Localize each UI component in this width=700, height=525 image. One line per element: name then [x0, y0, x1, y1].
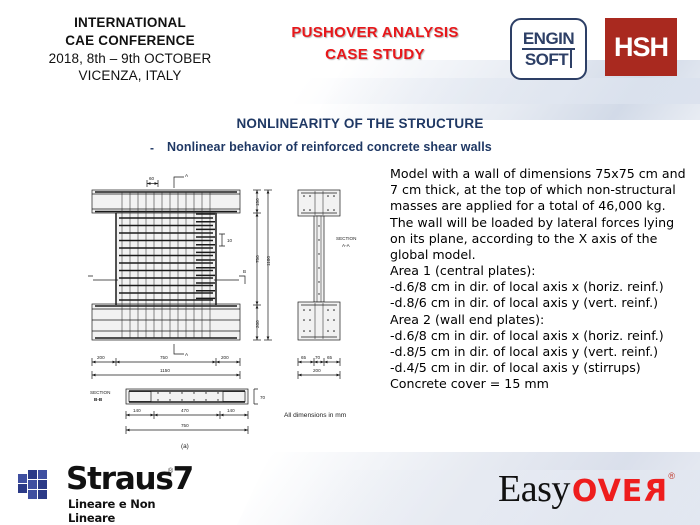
straus7-tagline: Lineare e Non Lineare [68, 497, 198, 525]
section-marker-a-top: A [174, 173, 189, 188]
section-aa-label-line-2: A-A [342, 243, 351, 248]
description-line: masses are applied for a total of 46,000… [390, 198, 690, 214]
description-line: 7 cm thick, at the top of which non-stru… [390, 182, 690, 198]
dim-sec-bb-thickness-label: 70 [260, 395, 266, 400]
straus7-logo: Straus7 ® Lineare e Non Lineare [18, 466, 198, 514]
section-marker-b-right-label: B [243, 269, 246, 274]
easyover-logo-easy: Easy [498, 470, 570, 508]
dim-plan-left-label: 200 [97, 355, 105, 360]
easyover-registered-mark: ® [668, 471, 675, 481]
description-line: Model with a wall of dimensions 75x75 cm… [390, 166, 690, 182]
section-marker-a-bottom-label: A [185, 352, 189, 357]
straus7-logo-square [38, 470, 47, 479]
straus7-logo-wordmark: Straus7 [66, 464, 193, 495]
section-bb-label-line-2: B-B [94, 397, 103, 402]
page-title-line-1: PUSHOVER ANALYSIS [255, 22, 495, 44]
enginsoft-logo: ENGIN SOFT [510, 18, 587, 80]
description-line: on its plane, according to the X axis of… [390, 231, 690, 247]
section-aa-drawing: SECTION A-A 65 70 65 200 [298, 190, 356, 379]
straus7-registered-mark: ® [168, 468, 173, 475]
description-line: The wall will be loaded by lateral force… [390, 215, 690, 231]
dim-sec-aa-total-label: 200 [313, 368, 321, 373]
conference-info-block: INTERNATIONAL CAE CONFERENCE 2018, 8th –… [6, 14, 254, 85]
section-marker-a-bottom: A [174, 344, 189, 357]
dim-sec-aa-b-label: 70 [315, 355, 321, 360]
section-bb-label-line-1: SECTION [90, 390, 110, 395]
straus7-logo-square [28, 490, 37, 499]
bullet-dash: - [150, 140, 154, 155]
straus7-logo-square [38, 480, 47, 489]
description-line: Area 1 (central plates): [390, 263, 690, 279]
enginsoft-logo-line-2: SOFT [525, 50, 572, 68]
dim-sec-bb-b-label: 470 [181, 408, 189, 413]
slide-root: INTERNATIONAL CAE CONFERENCE 2018, 8th –… [0, 0, 700, 525]
section-bb-drawing: SECTION B-B 70 140 [90, 389, 266, 434]
elevation-bottom-flange [92, 304, 240, 340]
elevation-top-flange [92, 190, 240, 213]
section-aa-label-line-1: SECTION [336, 236, 356, 241]
section-subheading: Nonlinear behavior of reinforced concret… [167, 140, 492, 155]
reinforcement-drawing: .ln{stroke:#1a1a1a;fill:none;stroke-widt… [88, 168, 380, 453]
description-line: -d.4/5 cm in dir. of local axis y (stirr… [390, 360, 690, 376]
section-marker-b-right: B [214, 269, 246, 284]
dim-sec-bb-c-label: 140 [227, 408, 235, 413]
conference-line-1: INTERNATIONAL [6, 14, 254, 32]
description-line: -d.8/6 cm in dir. of local axis y (vert.… [390, 295, 690, 311]
dim-plan-total-label: 1150 [160, 368, 170, 373]
easyover-logo-mirrored-r: R [643, 477, 667, 507]
page-title-line-2: CASE STUDY [255, 44, 495, 66]
straus7-logo-square [38, 490, 47, 499]
bar-mark-10-label: 10 [227, 238, 233, 243]
description-line: -d.8/5 cm in dir. of local axis y (vert.… [390, 344, 690, 360]
elevation-vertical-dimensions: 150 750 200 1100 [253, 190, 272, 340]
description-text-block: Model with a wall of dimensions 75x75 cm… [390, 166, 690, 392]
description-line: -d.6/8 cm in dir. of local axis x (horiz… [390, 279, 690, 295]
drawing-caption: (a) [181, 443, 189, 450]
section-marker-a-top-label: A [185, 173, 189, 178]
page-title: PUSHOVER ANALYSIS CASE STUDY [255, 22, 495, 66]
dim-plan-center-label: 750 [160, 355, 168, 360]
description-line: -d.6/8 cm in dir. of local axis x (horiz… [390, 328, 690, 344]
easyover-logo-over: OVER [572, 477, 668, 507]
dim-sec-aa-a-label: 65 [301, 355, 307, 360]
section-subheading-row: - Nonlinear behavior of reinforced concr… [150, 140, 580, 155]
dim-bottom-flange-label: 200 [255, 320, 260, 328]
dim-overall-height-label: 1100 [266, 256, 271, 266]
bar-mark-10: 10 [219, 234, 233, 246]
background-swoosh-top-secondary [293, 78, 700, 104]
dim-sec-aa-c-label: 65 [327, 355, 333, 360]
dim-sec-bb-total-label: 750 [181, 423, 189, 428]
easyover-logo-over-prefix: OVE [572, 474, 643, 509]
dim-web-label: 750 [255, 255, 260, 263]
straus7-logo-square [28, 480, 37, 489]
section-heading: NONLINEARITY OF THE STRUCTURE [150, 116, 570, 131]
description-line: Area 2 (wall end plates): [390, 312, 690, 328]
drawing-note: All dimensions in mm [284, 412, 347, 419]
straus7-logo-square [28, 470, 37, 479]
enginsoft-logo-line-1: ENGIN [522, 30, 575, 50]
dim-plan-right-label: 200 [221, 355, 229, 360]
description-line: global model. [390, 247, 690, 263]
dimension-top-spacing: 60 [147, 176, 158, 187]
conference-line-2: CAE CONFERENCE [6, 32, 254, 50]
description-line: Concrete cover = 15 mm [390, 376, 690, 392]
dimension-top-spacing-label: 60 [149, 176, 155, 181]
reinforcement-drawing-svg: .ln{stroke:#1a1a1a;fill:none;stroke-widt… [88, 168, 380, 453]
dim-sec-bb-a-label: 140 [133, 408, 141, 413]
elevation-horizontal-dimensions: 200 750 200 1150 [92, 355, 240, 379]
conference-line-4: VICENZA, ITALY [6, 67, 254, 85]
dim-top-flange-label: 150 [255, 198, 260, 206]
section-marker-b-left: B [88, 269, 118, 284]
conference-line-3: 2018, 8th – 9th OCTOBER [6, 50, 254, 68]
straus7-logo-square [18, 474, 27, 483]
easyover-logo: Easy OVER ® [498, 470, 674, 514]
hsh-logo: HSH [605, 18, 677, 76]
straus7-logo-square [18, 484, 27, 493]
